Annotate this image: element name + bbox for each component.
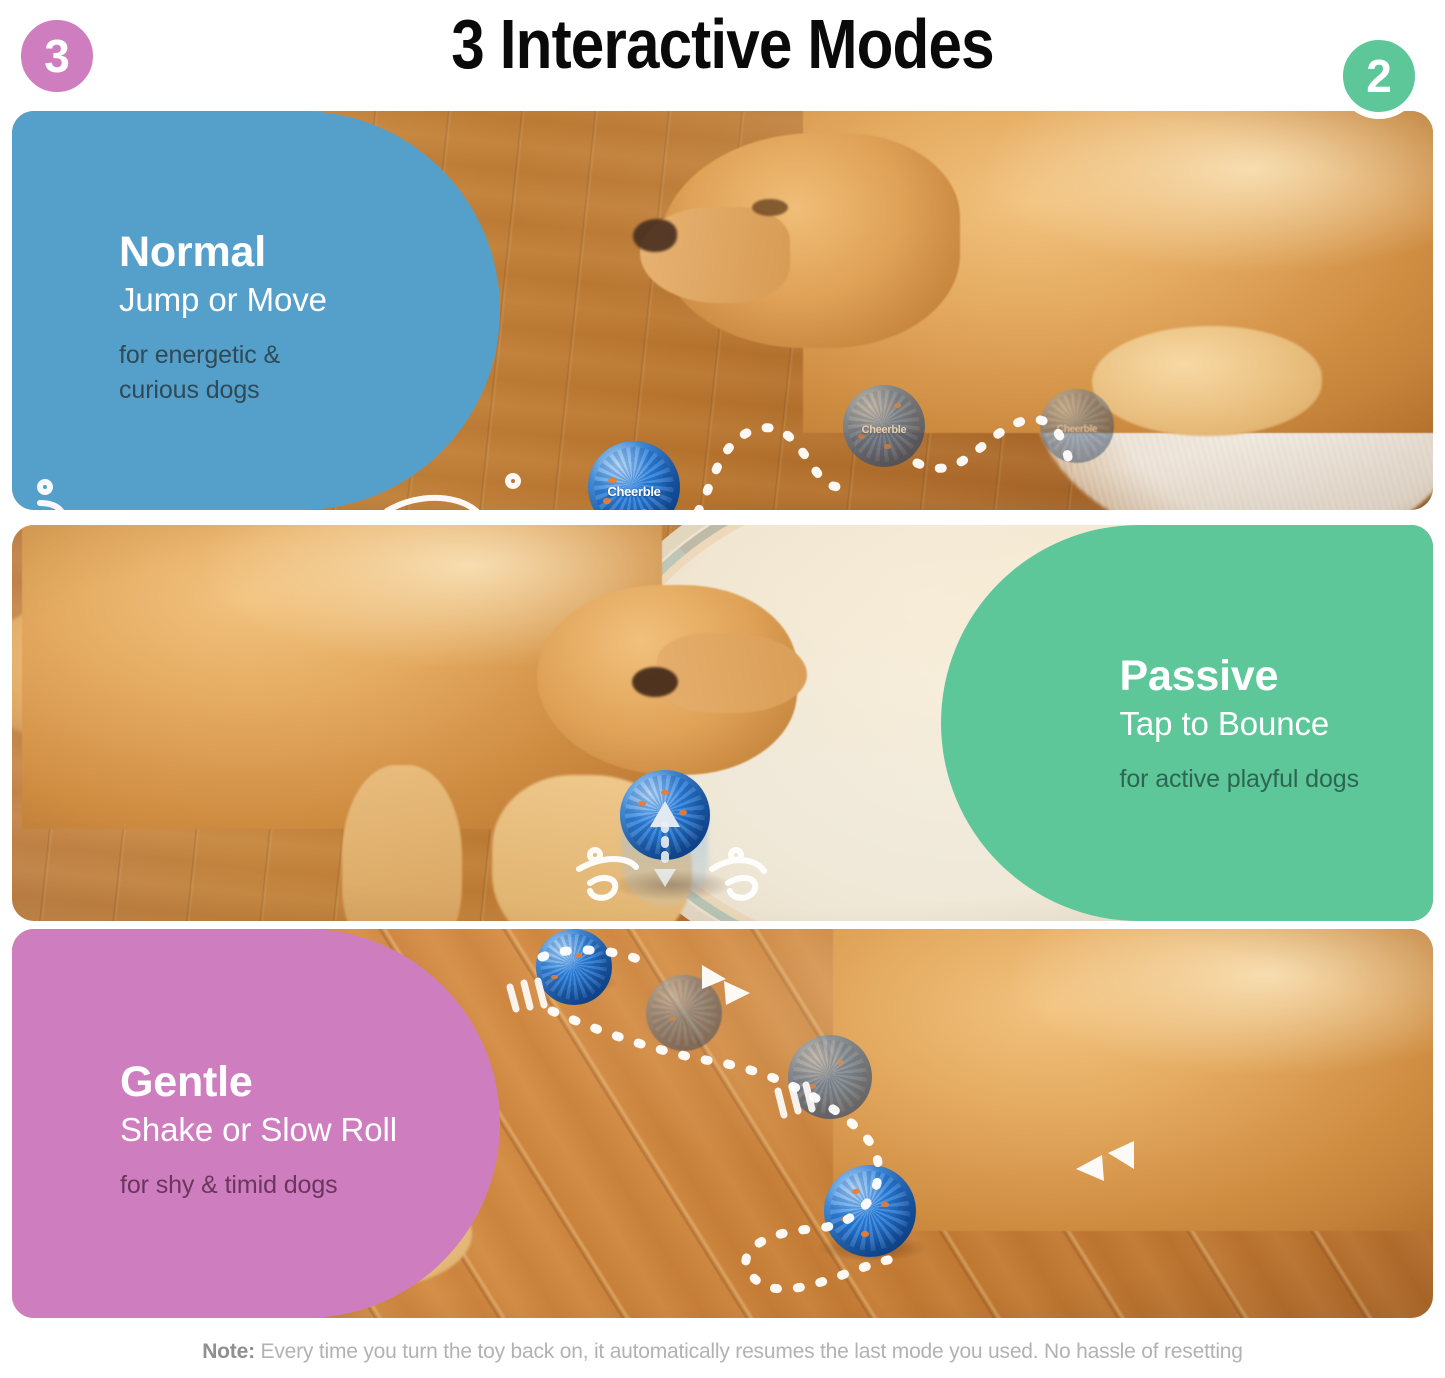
ball-speck (841, 1217, 849, 1223)
mode-text-block-2: Passive Tap to Bounce for active playful… (1120, 650, 1360, 797)
ball-step-4 (824, 1165, 916, 1257)
page-title: 3 Interactive Modes (101, 0, 1344, 90)
mode-description-1: for energetic & curious dogs (119, 338, 327, 408)
mode-badge-3: 3 (14, 13, 100, 99)
ball-speck (551, 975, 558, 980)
mode-name-3: Gentle (120, 1056, 397, 1108)
ball-speck (640, 509, 648, 510)
ball-speck (894, 403, 901, 408)
mode-description-line: for energetic & (119, 338, 327, 373)
ball-speck (808, 1084, 816, 1089)
mode-subtitle-1: Jump or Move (119, 278, 327, 322)
ball-swirl-texture (651, 980, 718, 1047)
ball-brand-logo: Cheerble (1040, 424, 1114, 435)
ball-primary (620, 770, 710, 860)
mode-description-line: for active playful dogs (1120, 762, 1360, 797)
ball-step-3 (788, 1035, 872, 1119)
ball-step-2 (646, 975, 722, 1051)
ball-ghost-far: Cheerble (1040, 389, 1114, 463)
footer-note-text: Every time you turn the toy back on, it … (261, 1340, 1243, 1363)
mode-description-3: for shy & timid dogs (120, 1168, 397, 1203)
mode-subtitle-3: Shake or Slow Roll (120, 1108, 397, 1152)
ball-speck (608, 478, 616, 484)
mode-description-line: for shy & timid dogs (120, 1168, 397, 1203)
mode-badge-2: 2 (1336, 33, 1422, 119)
ball-brand-logo: Cheerble (588, 484, 680, 499)
ball-speck (861, 1231, 869, 1237)
mode-description-line: curious dogs (119, 373, 327, 408)
infographic-page: 3 Interactive Modes Ch (0, 0, 1445, 1378)
mode-text-block-3: Gentle Shake or Slow Roll for shy & timi… (120, 1056, 397, 1203)
ball-swirl-texture (793, 1040, 867, 1114)
ball-swirl-texture (830, 1171, 911, 1252)
ball-swirl-texture (541, 934, 608, 1001)
ball-speck (576, 953, 583, 958)
ball-speck (638, 801, 646, 806)
ball-swirl-texture (625, 775, 704, 854)
mode-name-2: Passive (1120, 650, 1360, 702)
ball-brand-logo: Cheerble (843, 424, 925, 436)
mode-text-block-1: Normal Jump or Move for energetic & curi… (119, 226, 327, 408)
footer-note-label: Note: (202, 1340, 255, 1363)
ball-ghost-mid: Cheerble (843, 385, 925, 467)
footer-note: Note: Every time you turn the toy back o… (0, 1337, 1445, 1367)
mode-name-1: Normal (119, 226, 327, 278)
mode-subtitle-2: Tap to Bounce (1120, 702, 1360, 746)
ball-speck (651, 822, 659, 827)
ball-speck (669, 1017, 676, 1022)
ball-step-1 (536, 929, 612, 1005)
mode-description-2: for active playful dogs (1120, 762, 1360, 797)
